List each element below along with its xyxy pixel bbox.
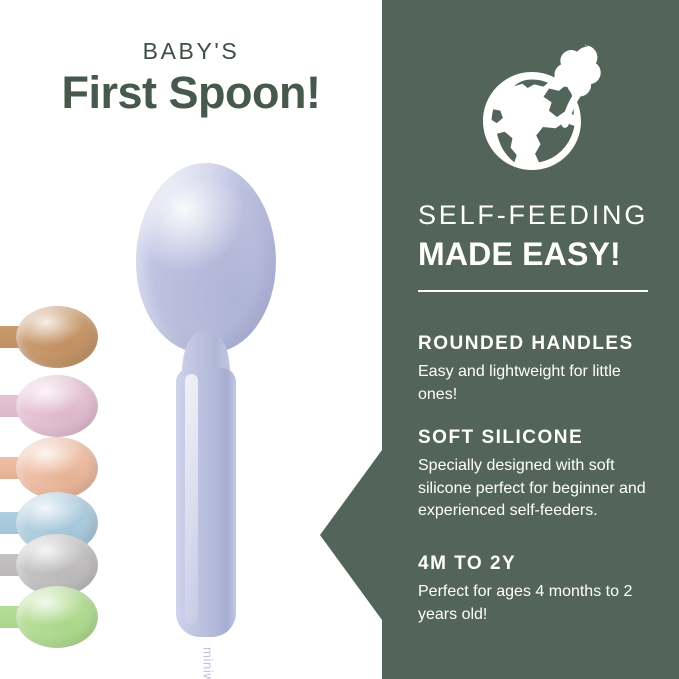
feature-block: 4M TO 2Y Perfect for ages 4 months to 2 … [418,554,658,626]
panel-heading-line2: MADE EASY! [382,238,679,270]
swatch-spoon-pink [0,375,98,437]
panel-arrow-pointer [320,450,382,620]
heading-divider [418,290,648,292]
panel-heading-line1: SELF-FEEDING [382,202,679,229]
brand-logo: miniware [201,646,216,679]
swatch-spoon-bowl [16,375,98,437]
swatch-spoon-tan [0,306,98,368]
feature-body: Specially designed with soft silicone pe… [418,455,658,523]
feature-title: 4M TO 2Y [418,554,658,573]
feature-body: Perfect for ages 4 months to 2 years old… [418,581,658,626]
spoon-handle: miniware [176,368,236,637]
title-block: BABY'S First Spoon! [0,40,382,116]
feature-title: SOFT SILICONE [418,428,658,447]
product-infographic: BABY'S First Spoon! miniware SELF-FEEDIN… [0,0,679,679]
main-spoon-image: miniware [128,163,284,637]
title-kicker: BABY'S [0,40,382,63]
swatch-spoon-bowl [16,306,98,368]
swatch-spoon-green [0,586,98,648]
globe-with-sprout-icon [470,22,625,177]
feature-block: ROUNDED HANDLES Easy and lightweight for… [418,334,658,406]
swatch-spoon-bowl [16,586,98,648]
spoon-bowl [136,163,276,353]
page-title: First Spoon! [0,69,382,116]
feature-block: SOFT SILICONE Specially designed with so… [418,428,658,523]
swatch-spoon-bowl [16,437,98,499]
feature-title: ROUNDED HANDLES [418,334,658,353]
feature-body: Easy and lightweight for little ones! [418,361,658,406]
swatch-spoon-peach [0,437,98,499]
